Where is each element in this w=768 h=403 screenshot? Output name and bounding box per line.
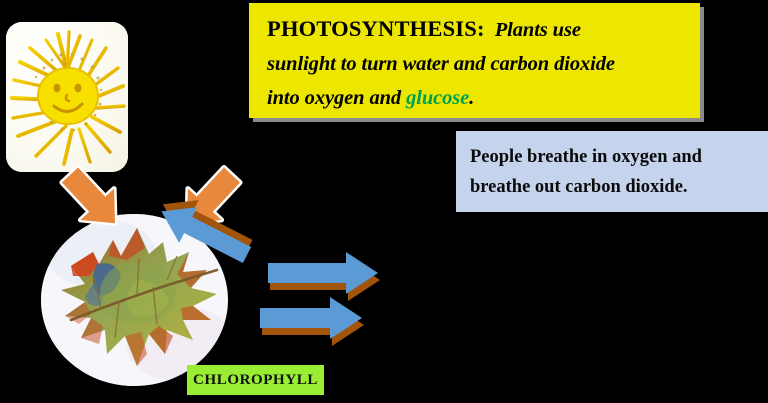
breathe-line-2: breathe out carbon dioxide. — [470, 172, 758, 202]
photosynthesis-definition-callout: PHOTOSYNTHESIS: Plants use sunlight to t… — [249, 3, 700, 118]
slide-canvas: CHLOROPHYLL PHOTOSYNTH — [0, 0, 768, 403]
definition-heading: PHOTOSYNTHESIS: — [267, 16, 485, 41]
gas-arrow-oxygen-out — [268, 252, 380, 301]
definition-line-3-prefix: into oxygen and — [267, 87, 406, 109]
leaf-watercolor-art — [41, 214, 228, 386]
gas-arrow-glucose-out — [260, 297, 364, 346]
definition-line-2: sunlight to turn water and carbon dioxid… — [267, 47, 686, 81]
breathe-line-1: People breathe in oxygen and — [470, 142, 758, 172]
glucose-highlight: glucose — [406, 87, 469, 109]
people-breathing-callout: People breathe in oxygen and breathe out… — [456, 131, 768, 212]
definition-line-3: into oxygen and glucose. — [267, 81, 686, 115]
sun-drawing-art — [6, 22, 128, 172]
sun-childrens-drawing — [6, 22, 128, 172]
definition-line-1: PHOTOSYNTHESIS: Plants use — [267, 12, 686, 47]
chlorophyll-label: CHLOROPHYLL — [187, 365, 324, 395]
definition-line-3-suffix: . — [469, 87, 474, 109]
maple-leaf-watercolor — [41, 214, 228, 386]
definition-line-1-rest: Plants use — [495, 19, 581, 41]
